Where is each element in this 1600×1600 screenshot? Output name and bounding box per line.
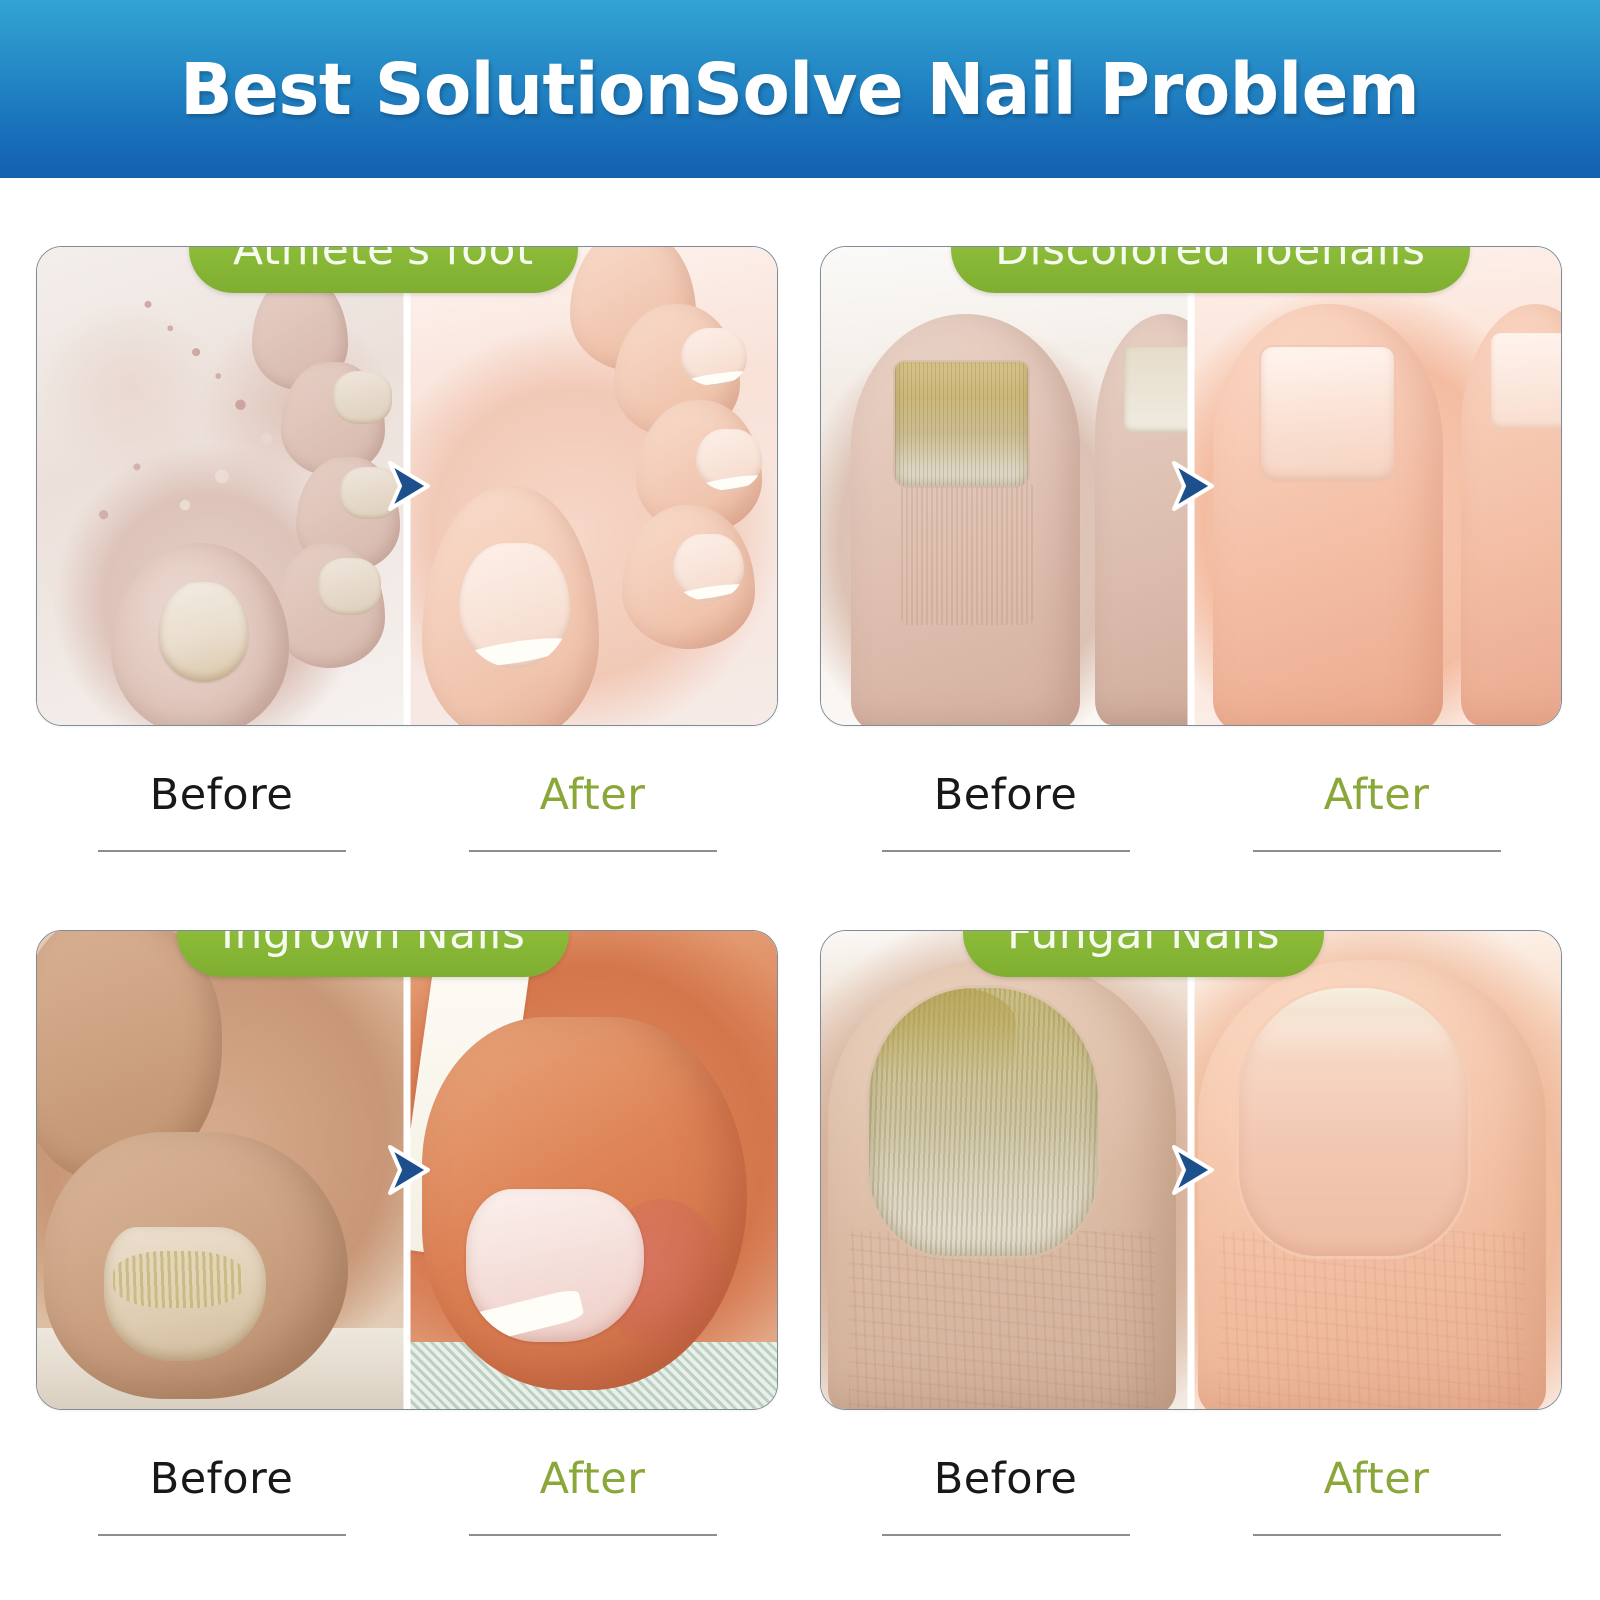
- panel-badge-fungal-nails: Fungal Nails: [963, 930, 1324, 977]
- before-caption: Before: [820, 1424, 1191, 1584]
- after-image-athletes-foot: [407, 247, 777, 725]
- panel-badge-ingrown-nails: Ingrown Nails: [177, 930, 569, 977]
- caption-underline: [469, 850, 717, 852]
- after-label: After: [1324, 1458, 1430, 1501]
- after-image-ingrown-nails: [407, 931, 777, 1409]
- after-caption: After: [407, 740, 778, 900]
- before-image-fungal-nails: [821, 931, 1191, 1409]
- arrow-right-icon: [1159, 456, 1223, 516]
- caption-underline: [882, 850, 1130, 852]
- badge-label: Ingrown Nails: [221, 930, 525, 959]
- before-label: Before: [934, 1458, 1078, 1501]
- arrow-right-icon: [375, 1140, 439, 1200]
- caption-underline: [469, 1534, 717, 1536]
- before-after-card: Athlete's foot: [36, 246, 778, 726]
- caption-underline: [98, 850, 346, 852]
- arrow-right-icon: [1159, 1140, 1223, 1200]
- after-label: After: [540, 1458, 646, 1501]
- before-after-card: Ingrown Nails: [36, 930, 778, 1410]
- caption-underline: [882, 1534, 1130, 1536]
- caption-underline: [98, 1534, 346, 1536]
- before-caption: Before: [36, 1424, 407, 1584]
- before-image-athletes-foot: [37, 247, 407, 725]
- caption-row: Before After: [820, 740, 1562, 900]
- panel-discolored-toenails: Discolored Toenails Before After: [820, 246, 1562, 906]
- caption-underline: [1253, 850, 1501, 852]
- after-image-fungal-nails: [1191, 931, 1561, 1409]
- after-caption: After: [1191, 1424, 1562, 1584]
- header-banner: Best SolutionSolve Nail Problem: [0, 0, 1600, 178]
- before-label: Before: [934, 774, 1078, 817]
- panel-fungal-nails: Fungal Nails Before After: [820, 930, 1562, 1590]
- before-caption: Before: [36, 740, 407, 900]
- badge-label: Discolored Toenails: [995, 246, 1426, 275]
- caption-row: Before After: [36, 740, 778, 900]
- badge-label: Fungal Nails: [1007, 930, 1280, 959]
- page-title: Best SolutionSolve Nail Problem: [180, 48, 1419, 131]
- before-after-card: Discolored Toenails: [820, 246, 1562, 726]
- after-caption: After: [407, 1424, 778, 1584]
- badge-label: Athlete's foot: [233, 246, 534, 275]
- before-after-card: Fungal Nails: [820, 930, 1562, 1410]
- panel-badge-athletes-foot: Athlete's foot: [189, 246, 578, 293]
- caption-row: Before After: [36, 1424, 778, 1584]
- after-caption: After: [1191, 740, 1562, 900]
- before-caption: Before: [820, 740, 1191, 900]
- before-label: Before: [150, 774, 294, 817]
- caption-row: Before After: [820, 1424, 1562, 1584]
- panel-athletes-foot: Athlete's foot Before After: [36, 246, 778, 906]
- before-image-ingrown-nails: [37, 931, 407, 1409]
- panel-badge-discolored-toenails: Discolored Toenails: [951, 246, 1470, 293]
- before-image-discolored-toenails: [821, 247, 1191, 725]
- arrow-right-icon: [375, 456, 439, 516]
- after-image-discolored-toenails: [1191, 247, 1561, 725]
- caption-underline: [1253, 1534, 1501, 1536]
- after-label: After: [1324, 774, 1430, 817]
- after-label: After: [540, 774, 646, 817]
- panel-ingrown-nails: Ingrown Nails Before After: [36, 930, 778, 1590]
- comparison-panel-grid: Athlete's foot Before After: [0, 178, 1600, 1600]
- before-label: Before: [150, 1458, 294, 1501]
